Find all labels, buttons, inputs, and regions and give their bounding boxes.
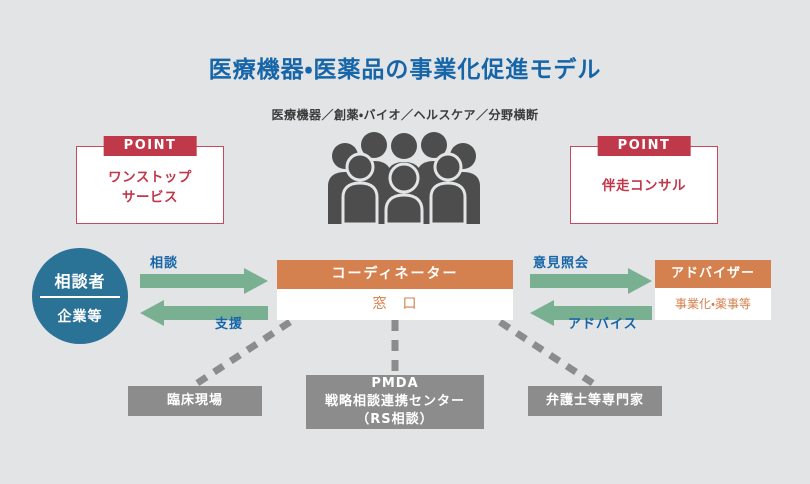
coordinator-body: 窓 口 [277, 289, 513, 320]
advisor-body: 事業化・薬事等 [655, 288, 771, 320]
point-badge-left: POINT [104, 136, 197, 156]
point-box-accompanying-consulting: POINT 伴走コンサル [570, 146, 718, 224]
point-box-one-stop-service: POINT ワンストップ サービス [76, 146, 224, 224]
advisor-header: アドバイザー [655, 260, 771, 288]
arrow-label-soudan: 相談 [150, 252, 178, 271]
page-title: 医療機器・医薬品の事業化促進モデル [0, 50, 810, 84]
point-text-left: ワンストップ サービス [77, 169, 223, 208]
point-text-left-line1: ワンストップ [77, 169, 223, 189]
pmda-line3: （RS相談） [325, 411, 465, 429]
coordinator-header: コーディネーター [277, 260, 513, 289]
pmda-line2: 戦略相談連携センター [325, 393, 465, 411]
partner-box-clinical-site: 臨床現場 [128, 386, 262, 416]
group-caption: 医療機器／創薬・バイオ／ヘルスケア／分野横断 [0, 106, 810, 123]
arrow-label-ikenshokai: 意見照会 [533, 252, 589, 271]
partner-box-lawyer-experts: 弁護士等専門家 [528, 386, 662, 416]
people-group-icon [320, 132, 488, 224]
diagram-canvas: 医療機器・医薬品の事業化促進モデル 医療機器／創薬・バイオ／ヘルスケア／分野横断 [0, 0, 810, 484]
partner-box-pmda: PMDA 戦略相談連携センター （RS相談） [306, 375, 484, 429]
point-text-right: 伴走コンサル [571, 177, 717, 197]
client-circle-divider [40, 296, 120, 298]
advisor-box: アドバイザー 事業化・薬事等 [655, 260, 771, 320]
point-text-right-line1: 伴走コンサル [571, 177, 717, 197]
point-text-left-line2: サービス [77, 188, 223, 208]
client-circle-top-label: 相談者 [32, 268, 128, 292]
pmda-line1: PMDA [325, 375, 465, 393]
point-badge-right: POINT [598, 136, 691, 156]
coordinator-box: コーディネーター 窓 口 [277, 260, 513, 320]
